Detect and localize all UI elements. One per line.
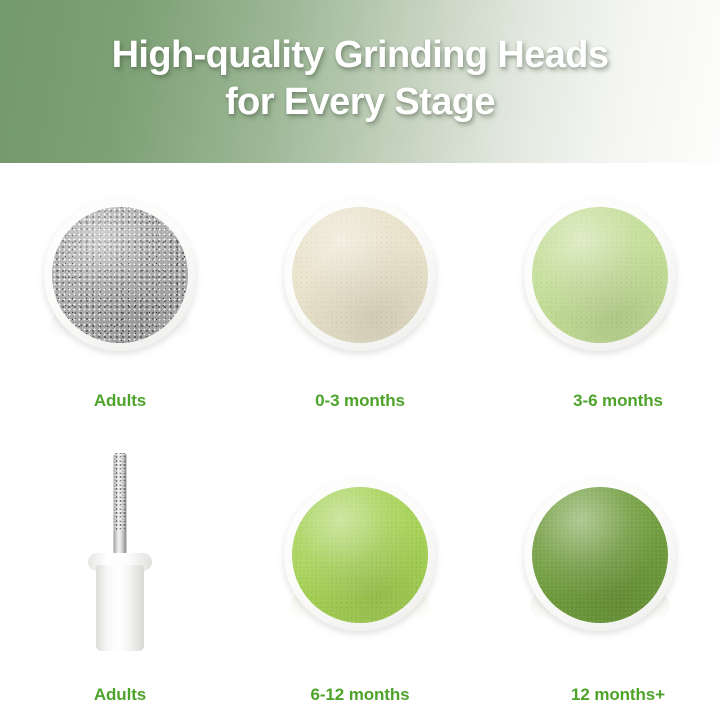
product-label: 3-6 months	[480, 391, 720, 411]
product-label: 12 months+	[480, 685, 720, 705]
product-label: 6-12 months	[240, 685, 480, 705]
product-label: 0-3 months	[240, 391, 480, 411]
grit-texture	[532, 487, 668, 623]
disc-face	[292, 207, 428, 343]
grit-texture	[114, 453, 127, 532]
disc-face	[532, 487, 668, 623]
product-card-adults-bit[interactable]: Adults	[0, 443, 240, 722]
grit-texture	[292, 487, 428, 623]
disc-face	[532, 207, 668, 343]
product-grid: Adults 0-3 months 3-6 months	[0, 163, 720, 722]
bit-shank	[114, 453, 127, 563]
product-label: Adults	[0, 391, 240, 411]
grit-texture	[292, 207, 428, 343]
bit-body	[96, 565, 144, 651]
page-title: High-quality Grinding Heads for Every St…	[0, 32, 720, 125]
product-card-0-3-months[interactable]: 0-3 months	[240, 163, 480, 442]
diamond-grit-disc-icon	[44, 199, 196, 351]
product-image	[240, 443, 480, 658]
product-image	[0, 163, 240, 378]
dark-green-grinding-disc-icon	[524, 479, 676, 631]
disc-face	[52, 207, 188, 343]
product-card-adults-disc[interactable]: Adults	[0, 163, 240, 442]
grit-texture	[532, 207, 668, 343]
cream-grinding-disc-icon	[284, 199, 436, 351]
product-image	[480, 163, 720, 378]
product-image	[480, 443, 720, 658]
disc-face	[292, 487, 428, 623]
diamond-grinding-bit-icon	[77, 453, 163, 651]
product-card-12-months-plus[interactable]: 12 months+	[480, 443, 720, 722]
light-green-grinding-disc-icon	[524, 199, 676, 351]
header-banner: High-quality Grinding Heads for Every St…	[0, 0, 720, 163]
product-card-3-6-months[interactable]: 3-6 months	[480, 163, 720, 442]
product-image	[240, 163, 480, 378]
product-label: Adults	[0, 685, 240, 705]
product-card-6-12-months[interactable]: 6-12 months	[240, 443, 480, 722]
grit-texture	[52, 207, 188, 343]
product-image	[0, 443, 240, 658]
yellow-green-grinding-disc-icon	[284, 479, 436, 631]
